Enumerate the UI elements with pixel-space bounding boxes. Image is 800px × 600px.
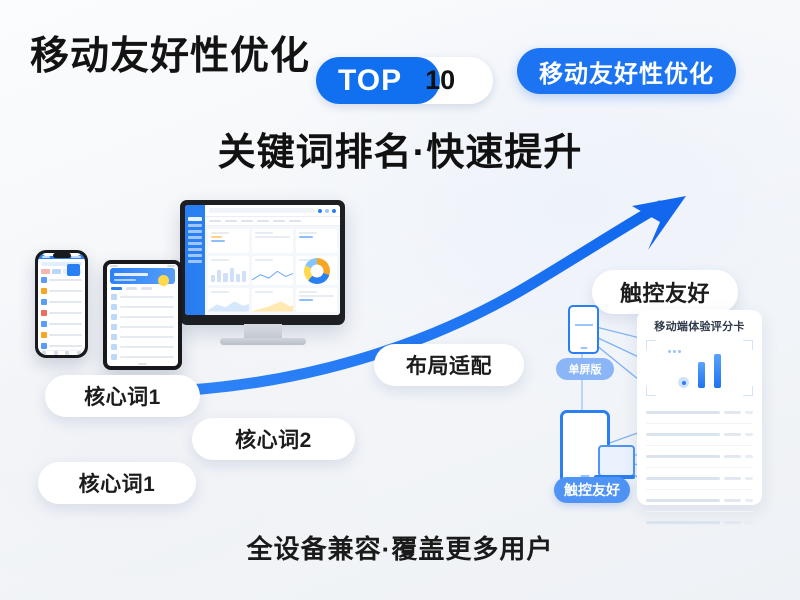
dashboard-topbar	[205, 205, 340, 217]
list-item	[41, 298, 82, 306]
keyword-pill-3: 核心词1	[38, 462, 196, 504]
widget-area-chart-2	[252, 288, 293, 312]
widget-bar-chart	[208, 256, 249, 284]
widget-line-chart	[252, 256, 293, 284]
top-badge-word: TOP	[338, 64, 402, 98]
table-row	[646, 446, 753, 468]
tablet-mockup	[103, 260, 182, 370]
phone-screen	[38, 253, 85, 355]
tablet-subnav	[107, 284, 178, 291]
chart-bars	[658, 346, 741, 388]
page-title: 移动友好性优化	[30, 25, 310, 81]
keyword-pill-1: 核心词1	[45, 375, 200, 417]
list-item	[41, 331, 82, 339]
phone-banner	[41, 262, 82, 266]
tablet-screen	[107, 264, 178, 366]
donut-icon	[304, 258, 330, 284]
phone-tabbar	[38, 350, 85, 355]
list-item	[111, 334, 174, 340]
widget-donut-chart	[296, 256, 337, 284]
device-mockups-group	[25, 195, 345, 380]
list-item	[41, 309, 82, 317]
widget-stat-2	[296, 229, 337, 253]
monitor-base	[220, 338, 306, 345]
widget-stat-1	[252, 229, 293, 253]
widget-area-chart-1	[208, 288, 249, 312]
diagram-badge-touch-friendly: 触控友好	[554, 477, 630, 503]
page-subtitle: 关键词排名·快速提升	[0, 121, 800, 176]
widget-filters	[208, 229, 249, 253]
list-item	[111, 304, 174, 310]
header-tag-label: 移动友好性优化	[539, 54, 714, 89]
callout-layout-adaptation: 布局适配	[374, 344, 524, 386]
desktop-monitor-mockup	[180, 200, 345, 325]
list-item	[111, 294, 174, 300]
footer-tagline: 全设备兼容·覆盖更多用户	[0, 529, 800, 566]
list-item	[111, 324, 174, 330]
mobile-experience-scorecard: 移动端体验评分卡	[637, 310, 762, 505]
list-item	[41, 320, 82, 328]
list-item	[41, 287, 82, 295]
dashboard-widget-grid	[205, 226, 340, 315]
header-tag-pill: 移动友好性优化	[517, 48, 736, 94]
list-item	[41, 342, 82, 350]
tablet-home-indicator	[107, 362, 178, 366]
dashboard-sidebar	[185, 205, 205, 315]
phone-notch	[53, 253, 71, 258]
dashboard-body	[205, 205, 340, 315]
table-row	[646, 402, 753, 424]
diagram-badge-single-screen: 单屏版	[556, 358, 614, 380]
top-badge-number: 10	[425, 65, 455, 96]
poster-canvas: 移动友好性优化 TOP 10 移动友好性优化 关键词排名·快速提升	[0, 0, 800, 600]
chart-pin-icon	[678, 377, 689, 388]
dashboard-tabs	[205, 217, 340, 226]
phone-mockup	[35, 250, 88, 358]
scorecard-title: 移动端体验评分卡	[646, 318, 753, 334]
scorecard-chart	[646, 340, 753, 396]
scorecard-rows	[646, 402, 753, 533]
table-row	[646, 490, 753, 512]
tablet-banner	[110, 268, 175, 284]
table-row	[646, 468, 753, 490]
table-row	[646, 424, 753, 446]
monitor-screen	[185, 205, 340, 315]
list-item	[41, 276, 82, 284]
keyword-pill-2: 核心词2	[192, 418, 355, 460]
top-rank-badge: TOP 10	[316, 57, 493, 104]
list-item	[111, 344, 174, 350]
laptop-icon	[594, 445, 632, 479]
tablet-list	[107, 292, 178, 362]
list-item	[111, 314, 174, 320]
list-item	[111, 354, 174, 360]
phone-result-list	[38, 276, 85, 350]
small-phone-icon	[568, 305, 599, 354]
widget-misc	[296, 288, 337, 312]
